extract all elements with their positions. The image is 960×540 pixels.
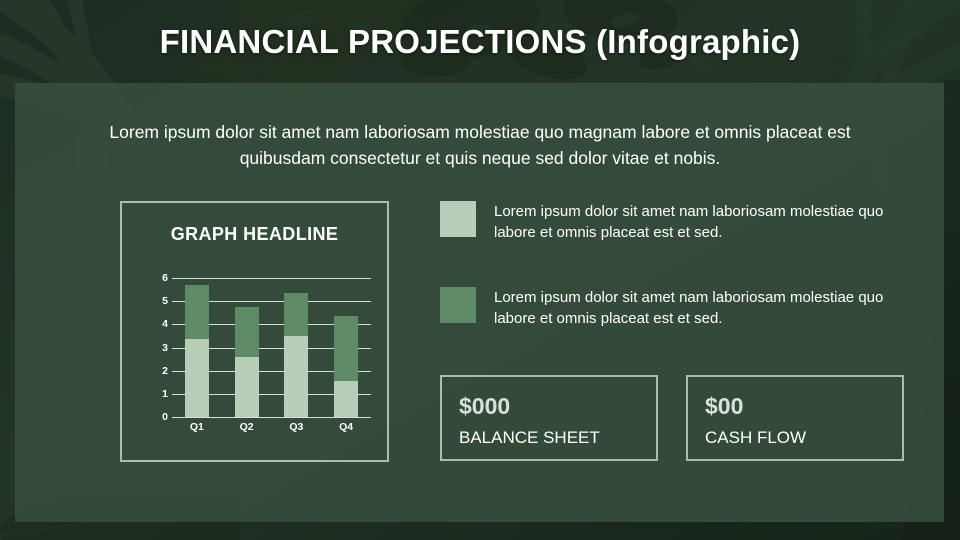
chart-title: GRAPH HEADLINE: [122, 224, 387, 245]
stat-label: BALANCE SHEET: [459, 428, 638, 448]
x-tick-label: Q3: [284, 421, 308, 433]
bar-segment-lower: [284, 336, 308, 417]
bar-segment-lower: [235, 357, 259, 417]
y-tick-label: 2: [146, 365, 168, 377]
bar-column[interactable]: [185, 278, 209, 417]
x-tick-label: Q1: [185, 421, 209, 433]
y-tick-label: 1: [146, 388, 168, 400]
bar-series-area: [172, 278, 371, 417]
x-axis: Q1Q2Q3Q4: [172, 421, 371, 433]
y-tick-label: 3: [146, 342, 168, 354]
y-tick-label: 4: [146, 318, 168, 330]
stat-value: $000: [459, 393, 638, 420]
bar-segment-upper: [284, 293, 308, 336]
page-title: FINANCIAL PROJECTIONS (Infographic): [160, 23, 801, 61]
stat-box: $00CASH FLOW: [686, 375, 904, 461]
bar-segment-upper: [235, 307, 259, 357]
intro-paragraph: Lorem ipsum dolor sit amet nam laboriosa…: [105, 119, 855, 171]
y-tick-label: 5: [146, 295, 168, 307]
legend-item: Lorem ipsum dolor sit amet nam laboriosa…: [440, 287, 910, 329]
bar-segment-upper: [185, 285, 209, 339]
x-tick-label: Q4: [334, 421, 358, 433]
legend-swatch: [440, 201, 476, 237]
bar-segment-lower: [334, 381, 358, 417]
bar-column[interactable]: [334, 278, 358, 417]
legend-label: Lorem ipsum dolor sit amet nam laboriosa…: [494, 201, 894, 243]
stat-box: $000BALANCE SHEET: [440, 375, 658, 461]
stat-label: CASH FLOW: [705, 428, 884, 448]
gridline: [172, 417, 371, 418]
stat-value: $00: [705, 393, 884, 420]
legend-label: Lorem ipsum dolor sit amet nam laboriosa…: [494, 287, 894, 329]
stat-boxes: $000BALANCE SHEET$00CASH FLOW: [440, 375, 910, 461]
bar-chart: 0123456 Q1Q2Q3Q4: [146, 278, 371, 438]
chart-card: GRAPH HEADLINE 0123456 Q1Q2Q3Q4: [120, 201, 389, 462]
y-tick-label: 0: [146, 411, 168, 423]
y-tick-label: 6: [146, 272, 168, 284]
legend-item: Lorem ipsum dolor sit amet nam laboriosa…: [440, 201, 910, 243]
y-axis: 0123456: [146, 278, 168, 417]
bar-column[interactable]: [235, 278, 259, 417]
bar-segment-lower: [185, 339, 209, 417]
legend: Lorem ipsum dolor sit amet nam laboriosa…: [440, 201, 910, 373]
bar-column[interactable]: [284, 278, 308, 417]
bar-segment-upper: [334, 316, 358, 381]
legend-swatch: [440, 287, 476, 323]
title-bar: FINANCIAL PROJECTIONS (Infographic): [0, 0, 960, 83]
content-panel: Lorem ipsum dolor sit amet nam laboriosa…: [15, 83, 944, 522]
x-tick-label: Q2: [235, 421, 259, 433]
